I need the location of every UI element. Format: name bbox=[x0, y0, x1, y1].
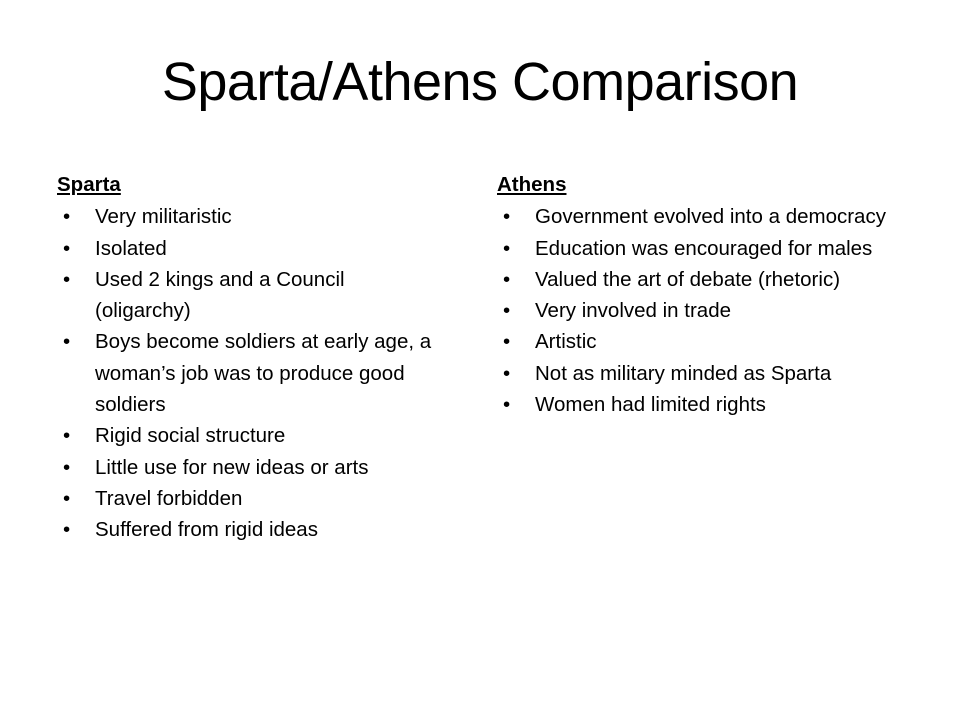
list-item: • Boys become soldiers at early age, a w… bbox=[57, 326, 442, 420]
list-item: • Used 2 kings and a Council (oligarchy) bbox=[57, 264, 442, 327]
list-item: • Rigid social structure bbox=[57, 420, 442, 451]
list-item: • Education was encouraged for males bbox=[497, 233, 897, 264]
bullet-icon: • bbox=[63, 233, 73, 264]
list-item: • Suffered from rigid ideas bbox=[57, 514, 442, 545]
bullet-icon: • bbox=[503, 295, 513, 326]
list-item-text: Women had limited rights bbox=[535, 389, 897, 420]
list-item: • Women had limited rights bbox=[497, 389, 897, 420]
bullet-icon: • bbox=[63, 201, 73, 232]
column-sparta: Sparta • Very militaristic • Isolated • … bbox=[57, 172, 442, 546]
list-item: • Artistic bbox=[497, 326, 897, 357]
bullet-icon: • bbox=[503, 233, 513, 264]
list-item-text: Boys become soldiers at early age, a wom… bbox=[95, 326, 442, 420]
list-item-text: Isolated bbox=[95, 233, 442, 264]
list-item-text: Very involved in trade bbox=[535, 295, 897, 326]
list-item-text: Travel forbidden bbox=[95, 483, 442, 514]
bullet-icon: • bbox=[503, 326, 513, 357]
list-item: • Very militaristic bbox=[57, 201, 442, 232]
list-item: • Isolated bbox=[57, 233, 442, 264]
list-item-text: Not as military minded as Sparta bbox=[535, 358, 897, 389]
list-item-text: Suffered from rigid ideas bbox=[95, 514, 442, 545]
bullet-icon: • bbox=[503, 358, 513, 389]
bullet-icon: • bbox=[63, 326, 73, 357]
list-item-text: Artistic bbox=[535, 326, 897, 357]
comparison-columns: Sparta • Very militaristic • Isolated • … bbox=[0, 172, 960, 592]
list-item: • Travel forbidden bbox=[57, 483, 442, 514]
bullet-icon: • bbox=[503, 264, 513, 295]
list-item-text: Government evolved into a democracy bbox=[535, 201, 897, 232]
list-item-text: Little use for new ideas or arts bbox=[95, 452, 442, 483]
list-item: • Not as military minded as Sparta bbox=[497, 358, 897, 389]
bullet-icon: • bbox=[503, 201, 513, 232]
bullet-icon: • bbox=[503, 389, 513, 420]
bullet-icon: • bbox=[63, 264, 73, 295]
bullet-list-sparta: • Very militaristic • Isolated • Used 2 … bbox=[57, 201, 442, 545]
list-item-text: Rigid social structure bbox=[95, 420, 442, 451]
bullet-icon: • bbox=[63, 483, 73, 514]
bullet-icon: • bbox=[63, 420, 73, 451]
list-item-text: Valued the art of debate (rhetoric) bbox=[535, 264, 897, 295]
list-item: • Valued the art of debate (rhetoric) bbox=[497, 264, 897, 295]
list-item: • Very involved in trade bbox=[497, 295, 897, 326]
slide: Sparta/Athens Comparison Sparta • Very m… bbox=[0, 0, 960, 720]
page-title: Sparta/Athens Comparison bbox=[0, 54, 960, 111]
list-item: • Government evolved into a democracy bbox=[497, 201, 897, 232]
list-item-text: Very militaristic bbox=[95, 201, 442, 232]
column-heading-sparta: Sparta bbox=[57, 172, 121, 198]
column-heading-athens: Athens bbox=[497, 172, 566, 198]
bullet-icon: • bbox=[63, 452, 73, 483]
list-item-text: Education was encouraged for males bbox=[535, 233, 897, 264]
list-item-text: Used 2 kings and a Council (oligarchy) bbox=[95, 264, 442, 327]
list-item: • Little use for new ideas or arts bbox=[57, 452, 442, 483]
bullet-list-athens: • Government evolved into a democracy • … bbox=[497, 201, 897, 420]
column-athens: Athens • Government evolved into a democ… bbox=[497, 172, 897, 420]
bullet-icon: • bbox=[63, 514, 73, 545]
